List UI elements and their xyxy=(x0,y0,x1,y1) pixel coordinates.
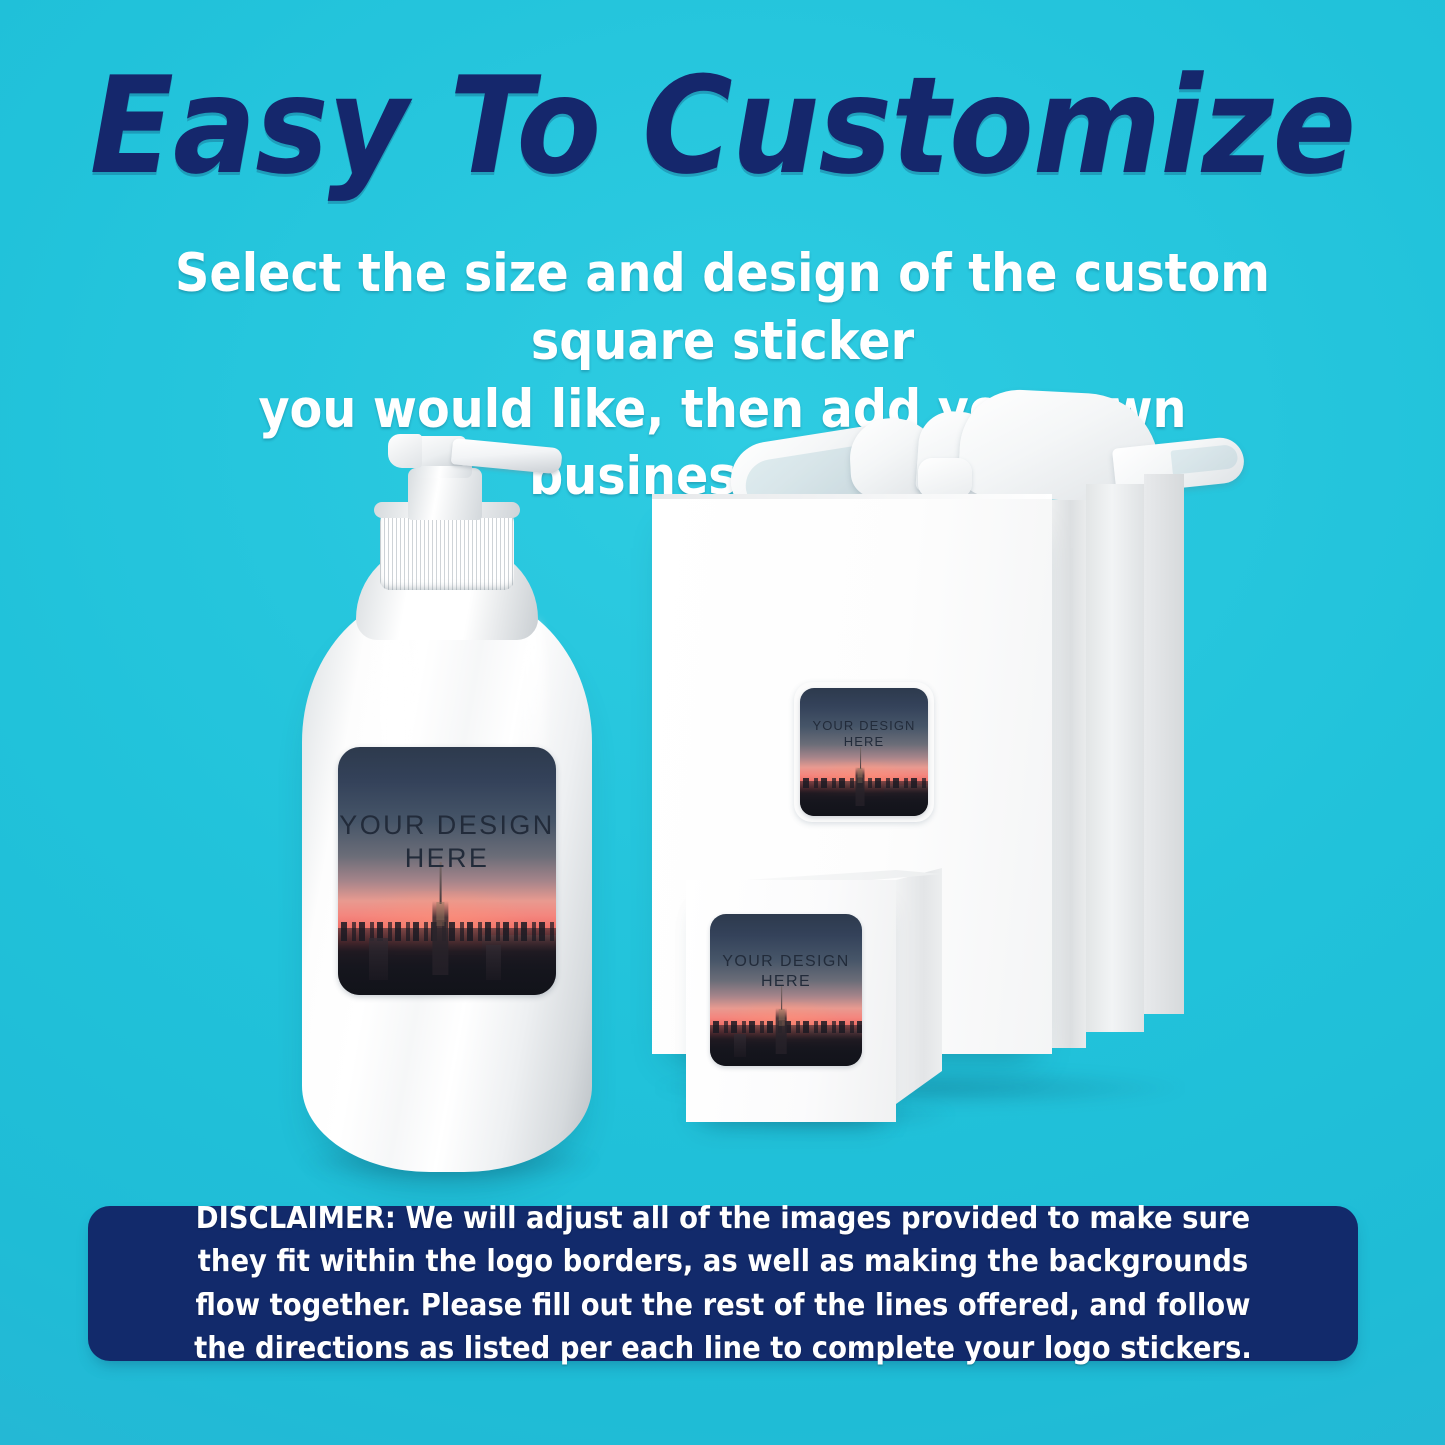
subtitle-line-1: Select the size and design of the custom… xyxy=(148,240,1297,376)
sticker-empire-state-building xyxy=(433,901,448,975)
sticker-design-line-2: HERE xyxy=(338,842,556,875)
gift-box-side-edge xyxy=(1052,500,1086,1048)
sticker-design-line-2: HERE xyxy=(710,972,862,992)
sticker-building-left xyxy=(369,938,389,980)
sticker-design-text: YOUR DESIGN HERE xyxy=(338,809,556,875)
sticker-design-text: YOUR DESIGN HERE xyxy=(800,718,928,750)
gift-box-top-edge xyxy=(652,494,1052,499)
disclaimer-banner: DISCLAIMER: We will adjust all of the im… xyxy=(88,1206,1358,1361)
cube-box-product: YOUR DESIGN HERE xyxy=(686,862,956,1122)
sticker-design-line-2: HERE xyxy=(800,734,928,750)
sticker-building-right xyxy=(486,945,501,980)
pump-bottle-product: YOUR DESIGN HERE xyxy=(292,432,602,1172)
sticker-empire-state-building xyxy=(856,767,865,805)
sticker-design-text: YOUR DESIGN HERE xyxy=(710,952,862,991)
promo-banner: Easy To Customize Select the size and de… xyxy=(0,0,1445,1445)
page-title: Easy To Customize xyxy=(58,58,1387,195)
pump-collar xyxy=(380,510,514,590)
sticker-empire-state-building xyxy=(776,1008,787,1054)
sticker-design-line-1: YOUR DESIGN xyxy=(338,809,556,842)
disclaimer-lead: DISCLAIMER: xyxy=(196,1201,396,1236)
gift-box-back-panel xyxy=(1144,474,1184,1014)
cube-box-sticker: YOUR DESIGN HERE xyxy=(710,914,862,1066)
disclaimer-text: DISCLAIMER: We will adjust all of the im… xyxy=(152,1197,1295,1370)
sticker-building-left xyxy=(734,1034,746,1057)
sticker-design-line-1: YOUR DESIGN xyxy=(800,718,928,734)
sticker-design-line-1: YOUR DESIGN xyxy=(710,952,862,972)
gift-box-sticker: YOUR DESIGN HERE xyxy=(800,688,928,816)
gift-box-lid-flap xyxy=(1086,484,1144,1032)
bow-knot xyxy=(918,458,972,498)
pump-head-lip xyxy=(388,434,422,468)
bottle-sticker-label: YOUR DESIGN HERE xyxy=(338,747,556,995)
cube-box-side-panel xyxy=(896,868,942,1104)
